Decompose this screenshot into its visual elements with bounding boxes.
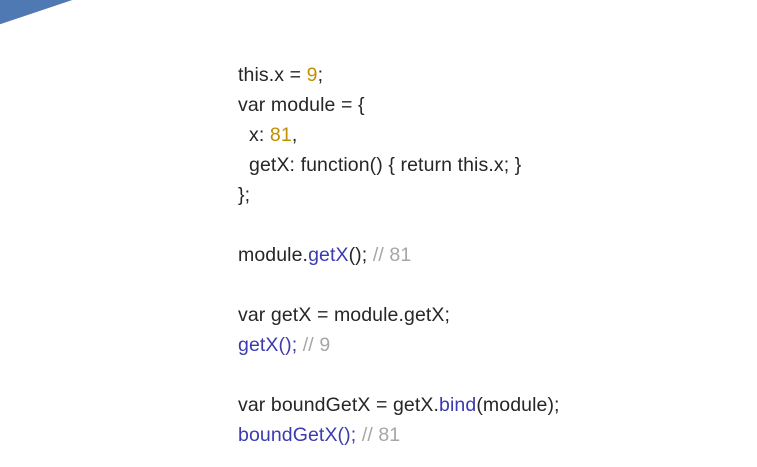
code-token-function: boundGetX(); (238, 424, 356, 446)
code-token-plain: this.x = (238, 64, 307, 86)
corner-ribbon-banner: bind方法 (0, 0, 226, 44)
code-line: var boundGetX = getX.bind(module); (238, 390, 738, 420)
code-token-function: getX (308, 244, 349, 266)
code-token-plain: ; (318, 64, 324, 86)
code-token-number: 81 (270, 124, 292, 146)
code-line: }; (238, 180, 738, 210)
code-token-function: bind (439, 394, 476, 416)
code-token-comment: // 81 (362, 424, 400, 446)
code-token-function: getX(); (238, 334, 297, 356)
code-line: x: 81, (238, 120, 738, 150)
code-token-comment: // 81 (373, 244, 411, 266)
code-line: this.x = 9; (238, 60, 738, 90)
code-line-blank (238, 360, 738, 390)
code-token-plain: }; (238, 184, 250, 206)
code-token-number: 9 (307, 64, 318, 86)
code-line-blank (238, 210, 738, 240)
code-token-plain: module. (238, 244, 308, 266)
code-line: getX: function() { return this.x; } (238, 150, 738, 180)
ribbon-banner-label: bind方法 (30, 0, 117, 1)
code-token-plain: getX: function() { return this.x; } (238, 154, 521, 176)
code-token-plain: var module = { (238, 94, 365, 116)
code-token-plain: , (292, 124, 298, 146)
code-line: module.getX(); // 81 (238, 240, 738, 270)
code-line-blank (238, 270, 738, 300)
code-line: var getX = module.getX; (238, 300, 738, 330)
code-token-plain: x: (238, 124, 270, 146)
code-token-plain: (module); (476, 394, 559, 416)
code-block: this.x = 9;var module = { x: 81, getX: f… (238, 60, 738, 450)
code-token-comment: // 9 (303, 334, 331, 356)
code-token-plain: var getX = module.getX; (238, 304, 450, 326)
code-line: var module = { (238, 90, 738, 120)
code-token-plain: (); (349, 244, 373, 266)
code-token-plain: var boundGetX = getX. (238, 394, 439, 416)
code-line: boundGetX(); // 81 (238, 420, 738, 450)
code-line: getX(); // 9 (238, 330, 738, 360)
